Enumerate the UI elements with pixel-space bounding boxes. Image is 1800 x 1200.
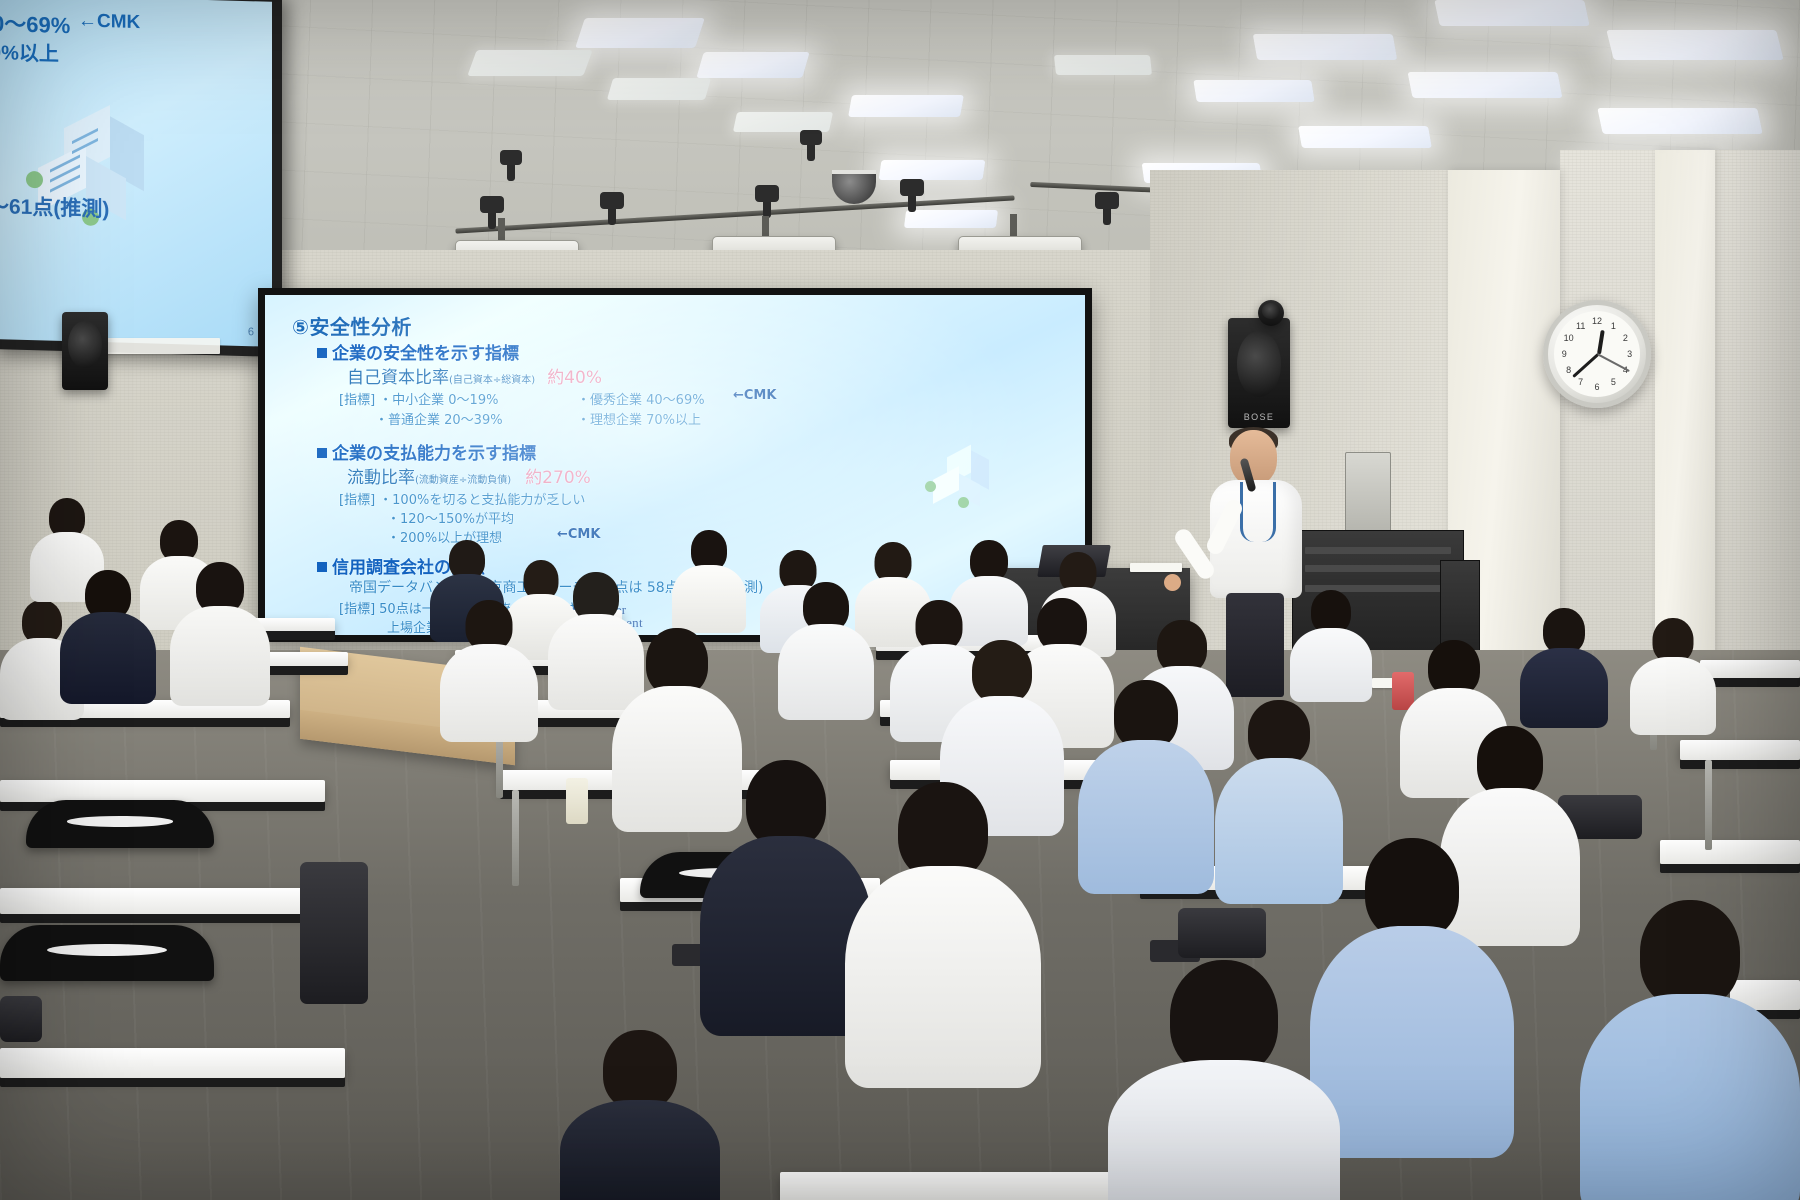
chair: [26, 800, 214, 848]
wall-notice: [100, 338, 220, 354]
track-spotlight: [480, 196, 504, 213]
desk-row: [1680, 740, 1800, 760]
track-spotlight: [800, 130, 822, 145]
audience-torso: [1520, 648, 1608, 728]
slide-section1-heading: 企業の安全性を示す指標: [317, 339, 519, 364]
audience-member: [560, 1030, 720, 1200]
ceiling-speaker: [1258, 300, 1284, 326]
desk-row: [1660, 840, 1800, 864]
shoulder-bag: [1178, 908, 1266, 958]
clock-minute-hand: [1572, 353, 1599, 378]
ceiling-light-panel: [733, 112, 833, 132]
slide-section2-cmk-marker: ←CMK: [557, 527, 600, 542]
laptop-bag: [0, 996, 42, 1042]
ceiling-light-panel: [1407, 72, 1562, 98]
clock-numeral: 2: [1623, 333, 1628, 343]
clock-numeral: 7: [1578, 377, 1583, 387]
desk-row: [0, 1048, 345, 1078]
section-bullet-icon: [317, 348, 327, 358]
ceiling-light-panel: [696, 52, 809, 78]
left-monitor-line-2: 0%以上: [0, 36, 59, 67]
audience-torso: [845, 866, 1041, 1088]
slide-section2-indicator-row1: [指標]・100%を切ると支払能力が乏しい: [339, 489, 585, 508]
slide-section1-indicator-row2: ・普通企業 20〜39%: [375, 409, 503, 428]
audience-torso: [1078, 740, 1214, 894]
av-equipment-stack: [1345, 452, 1391, 536]
clock-face: 12 1 2 3 4 5 6 7 8 9 10 11: [1554, 311, 1640, 397]
audience-head: [1248, 700, 1310, 766]
audience-head: [1365, 838, 1459, 940]
audience-member: [1520, 608, 1608, 726]
wall-speaker-left: [62, 312, 108, 390]
audience-member: [672, 530, 746, 630]
track-spotlight: [755, 185, 779, 202]
audience-head: [972, 640, 1032, 704]
slide-section1-metric: 自己資本比率(自己資本÷総資本)約40%: [347, 363, 602, 388]
presenter-lanyard: [1240, 482, 1276, 542]
section-bullet-icon: [317, 562, 327, 572]
desk-row: [0, 780, 325, 802]
clock-numeral: 12: [1592, 316, 1602, 326]
clock-numeral: 11: [1576, 321, 1585, 331]
presenter-hand-gesture: [1164, 574, 1181, 591]
audience-torso: [440, 644, 538, 742]
ceiling-light-panel: [467, 50, 592, 76]
ceiling-light-panel: [575, 18, 705, 48]
ceiling-light-panel: [1193, 80, 1314, 102]
drink-bottle: [566, 778, 588, 824]
slide-title: ⑤安全性分析: [292, 311, 412, 340]
backpack: [300, 862, 368, 1004]
audience-head: [746, 760, 826, 848]
slide-section1-indicator-right1: ・優秀企業 40〜69%: [577, 389, 705, 408]
projector-mount: [762, 216, 769, 238]
audience-member: [845, 782, 1041, 1082]
audience-torso: [1580, 994, 1800, 1200]
track-spotlight: [1095, 192, 1119, 209]
audience-head: [603, 1030, 677, 1110]
slide-section1-indicator-row1: [指標]・中小企業 0〜19%: [339, 389, 498, 408]
slide-section1-cmk-marker: ←CMK: [733, 388, 776, 403]
audience-member: [1290, 590, 1372, 700]
desk-leg: [1705, 760, 1712, 850]
audience-torso: [560, 1100, 720, 1200]
slide-section1-indicator-right2: ・理想企業 70%以上: [577, 409, 701, 428]
audience-member: [440, 600, 538, 740]
slide-building-illustration: [925, 447, 999, 505]
audience-torso: [1290, 628, 1372, 702]
audience-torso: [60, 612, 156, 704]
chair: [0, 925, 214, 981]
audience-member: [1108, 960, 1340, 1200]
left-monitor-cmk-marker: ←CMK: [78, 10, 140, 34]
desk-leg: [512, 790, 519, 886]
clock-hour-hand: [1597, 330, 1605, 354]
ceiling-light-panel: [904, 210, 998, 228]
audience-member: [60, 570, 156, 702]
ceiling-light-panel: [848, 95, 964, 117]
left-monitor-page-number: 6: [248, 326, 254, 338]
ceiling-light-panel: [879, 160, 986, 180]
ceiling-light-panel: [1606, 30, 1783, 60]
audience-torso: [778, 624, 874, 720]
presenter-trousers: [1226, 593, 1284, 697]
audience-head: [1170, 960, 1278, 1076]
audience-torso: [1108, 1060, 1340, 1200]
track-spotlight: [900, 179, 924, 196]
left-wall-monitor: 0〜69% ←CMK 0%以上 〜61点(推測) 6: [0, 0, 282, 357]
audience-member: [1310, 838, 1514, 1150]
track-spotlight: [500, 150, 522, 165]
left-monitor-line-1: 0〜69%: [0, 6, 70, 40]
audience-torso: [672, 565, 746, 633]
wall-speaker-right: BOSE: [1228, 318, 1290, 428]
left-monitor-line-3: 〜61点(推測): [0, 190, 109, 223]
wall-clock: 12 1 2 3 4 5 6 7 8 9 10 11: [1543, 300, 1651, 408]
clock-numeral: 8: [1566, 365, 1571, 375]
lecture-hall-photo: 0〜69% ←CMK 0%以上 〜61点(推測) 6 ⑤安全性分析: [0, 0, 1800, 1200]
ceiling-light-panel: [607, 78, 711, 100]
clock-numeral: 6: [1594, 382, 1599, 392]
audience-torso: [170, 606, 270, 706]
audience-torso: [1310, 926, 1514, 1158]
ceiling-light-panel: [1054, 55, 1152, 75]
audience-member: [1580, 900, 1800, 1200]
desk-row: [0, 888, 345, 914]
audience-member: [1078, 680, 1214, 890]
section-bullet-icon: [317, 448, 327, 458]
left-monitor-screen: 0〜69% ←CMK 0%以上 〜61点(推測) 6: [0, 0, 272, 347]
presenter-head: [1230, 430, 1277, 485]
audience-member: [778, 582, 874, 718]
projector-mount: [1010, 214, 1017, 238]
clock-second-hand: [1597, 353, 1629, 371]
audience-head: [1640, 900, 1740, 1008]
clock-numeral: 10: [1564, 333, 1574, 343]
clock-numeral: 1: [1611, 321, 1616, 331]
clock-numeral: 5: [1611, 377, 1616, 387]
speaker-brand-label: BOSE: [1228, 412, 1290, 422]
ceiling-light-panel: [1253, 34, 1398, 60]
lectern-papers: [1130, 563, 1182, 572]
audience-member: [1630, 618, 1716, 734]
ceiling-light-panel: [1298, 126, 1432, 148]
clock-numeral: 9: [1562, 349, 1567, 359]
audience-member: [170, 562, 270, 704]
ceiling-light-panel: [1597, 108, 1763, 134]
slide-section2-metric: 流動比率(流動資産÷流動負債)約270%: [347, 463, 591, 488]
ceiling-light-panel: [1434, 0, 1590, 26]
slide-section2-indicator-row2: ・120〜150%が平均: [387, 508, 514, 527]
track-spotlight: [600, 192, 624, 209]
slide-section2-heading: 企業の支払能力を示す指標: [317, 439, 536, 464]
clock-numeral: 3: [1627, 349, 1632, 359]
audience-torso: [1630, 657, 1716, 735]
